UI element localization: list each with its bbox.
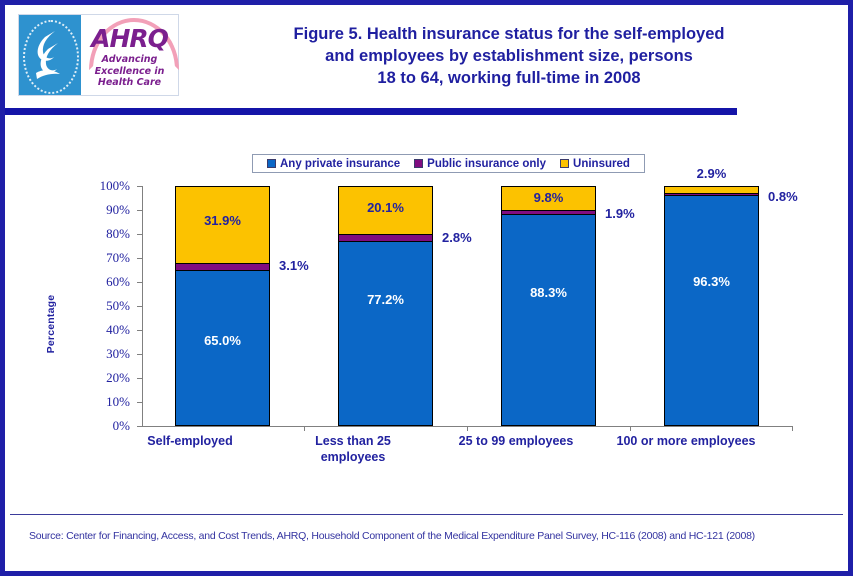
x-tick-2 bbox=[467, 426, 468, 431]
y-tick-label-90: 90% bbox=[106, 202, 130, 218]
bar-segment-private[interactable]: 77.2% bbox=[338, 241, 433, 426]
bar-self-employed[interactable]: 31.9% 65.0% 3.1% bbox=[175, 186, 270, 426]
y-tick-90: 90% bbox=[137, 210, 142, 211]
y-tick-100: 100% bbox=[137, 186, 142, 187]
ahrq-wordmark-block: AHRQ Advancing Excellence in Health Care bbox=[81, 15, 178, 95]
figure-title-line-2: and employees by establishment size, per… bbox=[195, 45, 823, 67]
x-category-label-25-to-99-employees: 25 to 99 employees bbox=[433, 433, 599, 449]
y-tick-70: 70% bbox=[137, 258, 142, 259]
y-tick-40: 40% bbox=[137, 330, 142, 331]
bar-callout-public: 2.8% bbox=[442, 230, 472, 245]
legend-item-any-private-insurance[interactable]: Any private insurance bbox=[267, 158, 400, 170]
bar-label-private: 88.3% bbox=[502, 285, 595, 300]
x-category-line-1: 100 or more employees bbox=[617, 434, 756, 448]
y-axis-line bbox=[142, 186, 143, 427]
y-tick-label-60: 60% bbox=[106, 274, 130, 290]
legend-swatch-private-icon bbox=[267, 159, 276, 168]
bar-label-private: 77.2% bbox=[339, 292, 432, 307]
ahrq-tagline: Advancing Excellence in Health Care bbox=[95, 54, 165, 89]
figure-title-line-1: Figure 5. Health insurance status for th… bbox=[294, 25, 725, 43]
y-axis-title: Percentage bbox=[45, 269, 57, 379]
bar-100-or-more-employees[interactable]: 2.9% 96.3% 0.8% bbox=[664, 186, 759, 426]
x-category-label-less-than-25-employees: Less than 25 employees bbox=[273, 433, 433, 465]
legend-swatch-public-icon bbox=[414, 159, 423, 168]
x-category-label-self-employed: Self-employed bbox=[110, 433, 270, 449]
bar-label-uninsured: 9.8% bbox=[502, 190, 595, 205]
x-tick-1 bbox=[304, 426, 305, 431]
chart-legend: Any private insurance Public insurance o… bbox=[252, 154, 645, 173]
figure-title: Figure 5. Health insurance status for th… bbox=[195, 23, 823, 89]
header-divider-rule bbox=[5, 108, 737, 115]
y-tick-10: 10% bbox=[137, 402, 142, 403]
y-tick-label-100: 100% bbox=[100, 178, 130, 194]
bar-label-uninsured: 31.9% bbox=[176, 213, 269, 228]
bar-segment-uninsured[interactable]: 2.9% bbox=[664, 186, 759, 193]
bar-segment-uninsured[interactable]: 31.9% bbox=[175, 186, 270, 263]
legend-label-public: Public insurance only bbox=[427, 158, 546, 170]
bar-callout-public: 3.1% bbox=[279, 258, 309, 273]
y-tick-label-50: 50% bbox=[106, 298, 130, 314]
bar-segment-public[interactable] bbox=[338, 234, 433, 241]
legend-item-uninsured[interactable]: Uninsured bbox=[560, 158, 630, 170]
bar-callout-public: 0.8% bbox=[768, 189, 798, 204]
x-category-line-1: Less than 25 bbox=[315, 434, 391, 448]
y-tick-label-30: 30% bbox=[106, 346, 130, 362]
x-category-line-1: Self-employed bbox=[147, 434, 232, 448]
bar-label-private: 65.0% bbox=[176, 333, 269, 348]
page-header: AHRQ Advancing Excellence in Health Care… bbox=[5, 5, 848, 101]
bar-label-uninsured: 20.1% bbox=[339, 200, 432, 215]
y-tick-label-10: 10% bbox=[106, 394, 130, 410]
legend-swatch-uninsured-icon bbox=[560, 159, 569, 168]
y-tick-20: 20% bbox=[137, 378, 142, 379]
legend-label-private: Any private insurance bbox=[280, 158, 400, 170]
x-tick-3 bbox=[630, 426, 631, 431]
y-tick-label-80: 80% bbox=[106, 226, 130, 242]
chart-region: Any private insurance Public insurance o… bbox=[5, 123, 848, 513]
bar-segment-public[interactable] bbox=[175, 263, 270, 270]
bar-label-private: 96.3% bbox=[665, 274, 758, 289]
bar-segment-uninsured[interactable]: 9.8% bbox=[501, 186, 596, 210]
ahrq-tagline-line-2: Excellence in bbox=[95, 66, 165, 77]
bar-less-than-25-employees[interactable]: 20.1% 77.2% 2.8% bbox=[338, 186, 433, 426]
x-tick-4 bbox=[792, 426, 793, 431]
y-tick-50: 50% bbox=[137, 306, 142, 307]
y-tick-60: 60% bbox=[137, 282, 142, 283]
bar-segment-private[interactable]: 88.3% bbox=[501, 214, 596, 426]
source-note: Source: Center for Financing, Access, an… bbox=[29, 529, 819, 544]
ahrq-tagline-line-1: Advancing bbox=[102, 54, 158, 65]
legend-label-uninsured: Uninsured bbox=[573, 158, 630, 170]
bar-callout-public: 1.9% bbox=[605, 206, 635, 221]
y-tick-30: 30% bbox=[137, 354, 142, 355]
legend-item-public-insurance-only[interactable]: Public insurance only bbox=[414, 158, 546, 170]
bar-segment-private[interactable]: 65.0% bbox=[175, 270, 270, 426]
y-tick-0: 0% bbox=[137, 426, 142, 427]
hhs-seal-icon bbox=[19, 15, 81, 95]
x-category-line-2: employees bbox=[321, 450, 386, 464]
ahrq-tagline-line-3: Health Care bbox=[98, 77, 161, 88]
bar-segment-uninsured[interactable]: 20.1% bbox=[338, 186, 433, 234]
hhs-bird-glyph bbox=[32, 29, 68, 83]
y-tick-80: 80% bbox=[137, 234, 142, 235]
ahrq-hhs-logo: AHRQ Advancing Excellence in Health Care bbox=[18, 14, 179, 96]
y-tick-label-70: 70% bbox=[106, 250, 130, 266]
plot-area: 0% 10% 20% 30% 40% 50% 60% 70% 80% 90% 1… bbox=[142, 186, 793, 426]
footer-divider-rule bbox=[10, 514, 843, 515]
figure-title-line-3: 18 to 64, working full-time in 2008 bbox=[195, 67, 823, 89]
figure-page: AHRQ Advancing Excellence in Health Care… bbox=[0, 0, 853, 576]
bar-25-to-99-employees[interactable]: 9.8% 88.3% 1.9% bbox=[501, 186, 596, 426]
y-tick-label-40: 40% bbox=[106, 322, 130, 338]
y-tick-label-20: 20% bbox=[106, 370, 130, 386]
y-tick-label-0: 0% bbox=[113, 418, 130, 434]
x-category-line-1: 25 to 99 employees bbox=[459, 434, 574, 448]
ahrq-wordmark: AHRQ bbox=[91, 26, 168, 52]
bar-segment-private[interactable]: 96.3% bbox=[664, 195, 759, 426]
x-category-label-100-or-more-employees: 100 or more employees bbox=[593, 433, 779, 449]
bar-label-uninsured: 2.9% bbox=[665, 166, 758, 181]
